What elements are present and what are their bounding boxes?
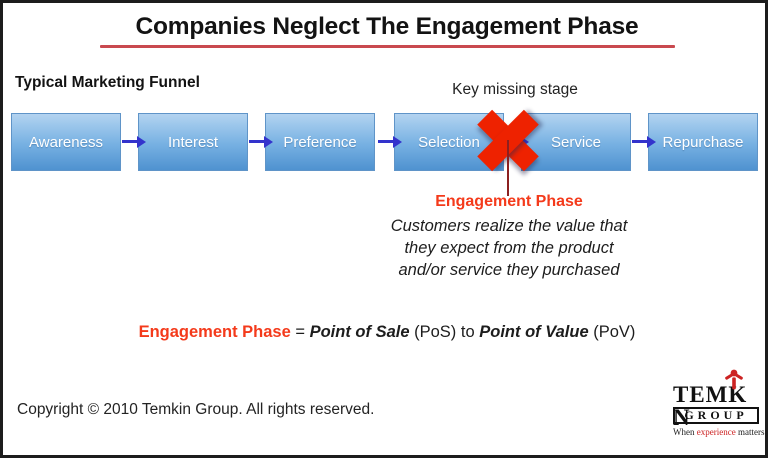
slide-canvas: Companies Neglect The Engagement Phase T… xyxy=(0,0,768,458)
logo-tagline-emphasis: experience xyxy=(697,427,736,437)
callout-body-line-1: Customers realize the value that xyxy=(333,215,685,237)
logo-tagline-before: When xyxy=(673,427,697,437)
funnel-stage-repurchase[interactable]: Repurchase xyxy=(648,113,758,171)
funnel-caption: Typical Marketing Funnel xyxy=(15,74,200,92)
engagement-phase-definition: Engagement Phase = Point of Sale (PoS) t… xyxy=(3,323,768,342)
definition-pov-abbr: (PoV) xyxy=(589,323,636,341)
page-title: Companies Neglect The Engagement Phase xyxy=(3,13,768,41)
callout-body: Customers realize the value that they ex… xyxy=(333,215,685,281)
title-underline-rule xyxy=(100,45,675,48)
temkin-group-logo: TEMK N GROUP When experience matters xyxy=(669,369,763,451)
logo-tagline: When experience matters xyxy=(673,427,759,437)
definition-point-of-sale: Point of Sale xyxy=(310,323,410,341)
arrow-preference-to-selection-icon xyxy=(378,135,404,149)
copyright-notice: Copyright © 2010 Temkin Group. All right… xyxy=(17,401,374,419)
arrow-interest-to-preference-icon xyxy=(249,135,275,149)
key-missing-stage-caption: Key missing stage xyxy=(435,81,595,99)
funnel-stage-service[interactable]: Service xyxy=(521,113,631,171)
arrow-selection-to-service-icon xyxy=(505,135,531,149)
person-figure-icon xyxy=(724,369,744,391)
callout-body-line-2: they expect from the product xyxy=(333,237,685,259)
callout-body-line-3: and/or service they purchased xyxy=(333,259,685,281)
arrow-awareness-to-interest-icon xyxy=(122,135,148,149)
logo-tagline-after: matters xyxy=(736,427,765,437)
arrow-service-to-repurchase-icon xyxy=(632,135,658,149)
logo-group-bar: GROUP xyxy=(673,407,759,424)
definition-point-of-value: Point of Value xyxy=(479,323,588,341)
definition-equals: = xyxy=(291,323,310,341)
engagement-phase-callout: Engagement Phase Customers realize the v… xyxy=(333,193,685,281)
definition-pos-abbr: (PoS) xyxy=(410,323,461,341)
callout-leader-line xyxy=(507,140,509,196)
definition-term: Engagement Phase xyxy=(139,323,291,341)
funnel-stage-interest[interactable]: Interest xyxy=(138,113,248,171)
funnel-stage-selection[interactable]: Selection xyxy=(394,113,504,171)
definition-to: to xyxy=(461,323,479,341)
funnel-stage-awareness[interactable]: Awareness xyxy=(11,113,121,171)
callout-title: Engagement Phase xyxy=(333,193,685,211)
funnel-stage-preference[interactable]: Preference xyxy=(265,113,375,171)
